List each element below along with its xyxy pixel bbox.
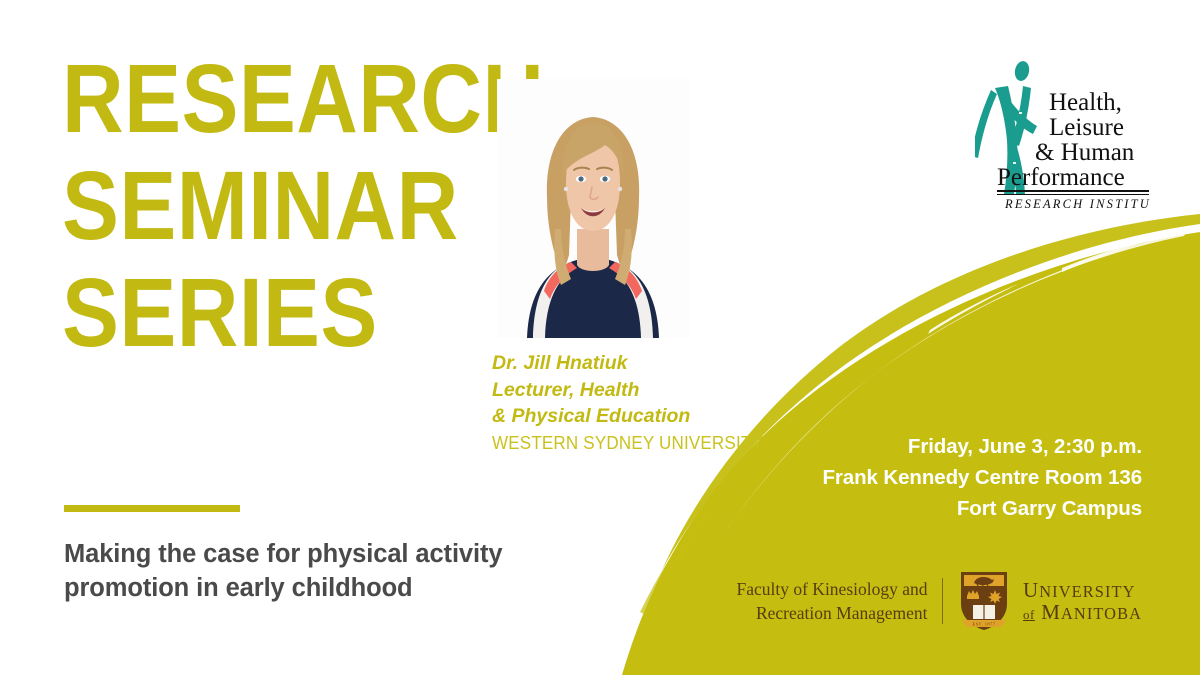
crest-motto: EST. 1877 <box>973 621 996 626</box>
wordmark-university: UNIVERSITY <box>1023 579 1142 601</box>
logo-subtitle: RESEARCH INSTITUTE <box>1004 197 1150 211</box>
faculty-line-1: Faculty of Kinesiology and <box>736 577 927 601</box>
hlhp-research-institute-logo: Health, Leisure & Human Performance RESE… <box>975 58 1150 213</box>
footer-divider <box>942 578 944 624</box>
seminar-topic: Making the case for physical activity pr… <box>64 538 564 605</box>
event-venue: Frank Kennedy Centre Room 136 <box>823 463 1143 494</box>
footer-credits: Faculty of Kinesiology and Recreation Ma… <box>730 570 1142 632</box>
event-datetime: Friday, June 3, 2:30 p.m. <box>823 432 1143 463</box>
logo-line-3: & Human <box>1035 139 1135 166</box>
faculty-line-2: Recreation Management <box>736 601 927 625</box>
title-divider-rule <box>64 505 240 512</box>
speaker-name: Dr. Jill Hnatiuk <box>492 350 792 377</box>
speaker-photo <box>497 79 689 338</box>
logo-line-4: Performance <box>997 164 1125 191</box>
logo-line-1: Health, <box>1049 89 1122 116</box>
speaker-role-1: Lecturer, Health <box>492 377 792 404</box>
speaker-role-2: & Physical Education <box>492 403 792 430</box>
logo-line-2: Leisure <box>1049 114 1124 141</box>
university-wordmark: UNIVERSITY of MANITOBA <box>1011 579 1142 624</box>
page-title: RESEARCH SEMINAR SERIES <box>62 52 482 373</box>
wordmark-manitoba: of MANITOBA <box>1023 601 1142 623</box>
event-campus: Fort Garry Campus <box>823 494 1143 525</box>
seminar-poster: RESEARCH SEMINAR SERIES Making the case … <box>0 0 1200 675</box>
university-of-manitoba-crest: EST. 1877 <box>957 570 1011 632</box>
title-line-3: SERIES <box>62 266 432 360</box>
speaker-credit: Dr. Jill Hnatiuk Lecturer, Health & Phys… <box>492 350 792 454</box>
speaker-affiliation: WESTERN SYDNEY UNIVERSITY <box>492 432 768 454</box>
title-line-2: SEMINAR <box>62 159 432 253</box>
faculty-name: Faculty of Kinesiology and Recreation Ma… <box>736 577 941 625</box>
title-line-1: RESEARCH <box>62 52 432 146</box>
wordmark-of: of <box>1023 607 1035 622</box>
event-details: Friday, June 3, 2:30 p.m. Frank Kennedy … <box>823 432 1143 524</box>
